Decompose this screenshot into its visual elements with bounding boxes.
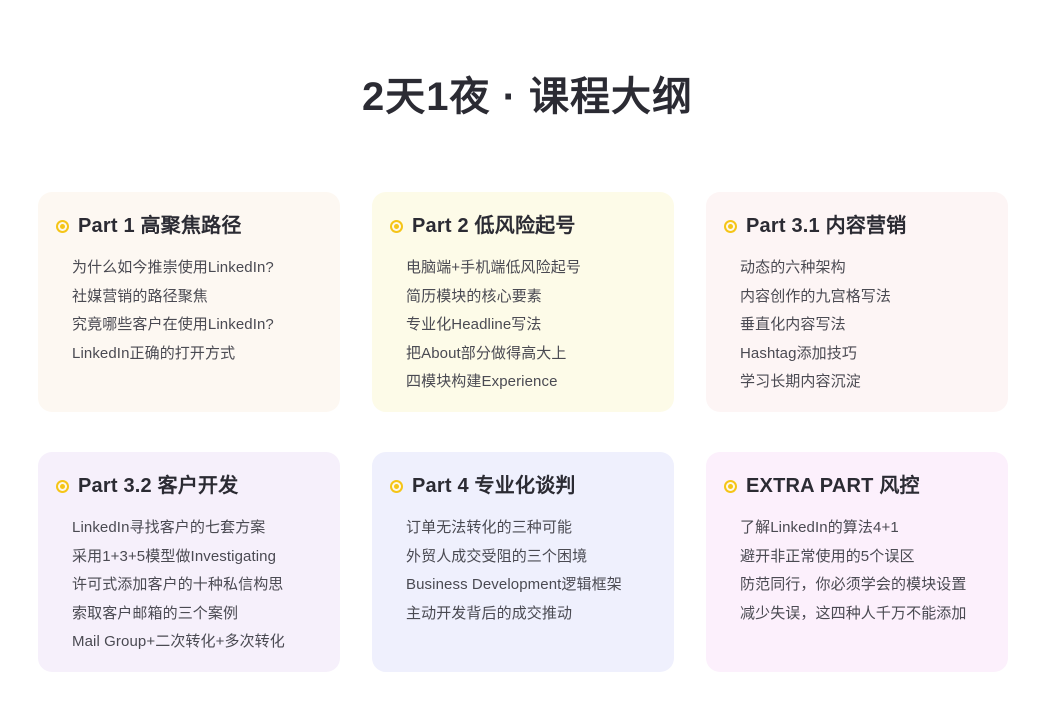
list-item: 专业化Headline写法 — [406, 311, 650, 340]
card-header: EXTRA PART 风控 — [724, 474, 984, 498]
card-header: Part 3.1 内容营销 — [724, 214, 984, 238]
list-item: 订单无法转化的三种可能 — [406, 514, 650, 543]
list-item: Hashtag添加技巧 — [740, 340, 984, 369]
list-item: 电脑端+手机端低风险起号 — [406, 254, 650, 283]
card-title: Part 1 高聚焦路径 — [78, 214, 242, 238]
list-item: Mail Group+二次转化+多次转化 — [72, 628, 316, 657]
card-item-list: 动态的六种架构内容创作的九宫格写法垂直化内容写法Hashtag添加技巧学习长期内… — [724, 254, 984, 397]
card-item-list: 订单无法转化的三种可能外贸人成交受阻的三个困境Business Developm… — [390, 514, 650, 628]
list-item: 主动开发背后的成交推动 — [406, 600, 650, 629]
course-outline-page: 2天1夜 · 课程大纲 Part 1 高聚焦路径为什么如今推崇使用LinkedI… — [0, 0, 1055, 703]
card-title: Part 3.2 客户开发 — [78, 474, 238, 498]
outline-card-part-3-1: Part 3.1 内容营销动态的六种架构内容创作的九宫格写法垂直化内容写法Has… — [706, 192, 1008, 412]
list-item: 减少失误，这四种人千万不能添加 — [740, 600, 984, 629]
card-item-list: 电脑端+手机端低风险起号简历模块的核心要素专业化Headline写法把About… — [390, 254, 650, 397]
list-item: 为什么如今推崇使用LinkedIn? — [72, 254, 316, 283]
card-header: Part 4 专业化谈判 — [390, 474, 650, 498]
list-item: 垂直化内容写法 — [740, 311, 984, 340]
list-item: 动态的六种架构 — [740, 254, 984, 283]
outline-card-part-4: Part 4 专业化谈判订单无法转化的三种可能外贸人成交受阻的三个困境Busin… — [372, 452, 674, 672]
list-item: 防范同行，你必须学会的模块设置 — [740, 571, 984, 600]
ring-dot-icon — [724, 480, 737, 493]
card-header: Part 1 高聚焦路径 — [56, 214, 316, 238]
list-item: 许可式添加客户的十种私信构思 — [72, 571, 316, 600]
card-header: Part 3.2 客户开发 — [56, 474, 316, 498]
card-item-list: 了解LinkedIn的算法4+1避开非正常使用的5个误区防范同行，你必须学会的模… — [724, 514, 984, 628]
list-item: 外贸人成交受阻的三个困境 — [406, 543, 650, 572]
card-title: EXTRA PART 风控 — [746, 474, 920, 498]
card-title: Part 4 专业化谈判 — [412, 474, 576, 498]
outline-card-part-2: Part 2 低风险起号电脑端+手机端低风险起号简历模块的核心要素专业化Head… — [372, 192, 674, 412]
card-header: Part 2 低风险起号 — [390, 214, 650, 238]
card-title: Part 2 低风险起号 — [412, 214, 576, 238]
ring-dot-icon — [56, 480, 69, 493]
ring-dot-icon — [56, 220, 69, 233]
outline-card-part-1: Part 1 高聚焦路径为什么如今推崇使用LinkedIn?社媒营销的路径聚焦究… — [38, 192, 340, 412]
list-item: 索取客户邮箱的三个案例 — [72, 600, 316, 629]
list-item: LinkedIn寻找客户的七套方案 — [72, 514, 316, 543]
card-item-list: LinkedIn寻找客户的七套方案采用1+3+5模型做Investigating… — [56, 514, 316, 657]
card-title: Part 3.1 内容营销 — [746, 214, 906, 238]
list-item: 四模块构建Experience — [406, 368, 650, 397]
list-item: Business Development逻辑框架 — [406, 571, 650, 600]
list-item: 避开非正常使用的5个误区 — [740, 543, 984, 572]
list-item: 内容创作的九宫格写法 — [740, 283, 984, 312]
list-item: 学习长期内容沉淀 — [740, 368, 984, 397]
ring-dot-icon — [724, 220, 737, 233]
card-item-list: 为什么如今推崇使用LinkedIn?社媒营销的路径聚焦究竟哪些客户在使用Link… — [56, 254, 316, 368]
list-item: 把About部分做得高大上 — [406, 340, 650, 369]
list-item: 社媒营销的路径聚焦 — [72, 283, 316, 312]
outline-card-grid: Part 1 高聚焦路径为什么如今推崇使用LinkedIn?社媒营销的路径聚焦究… — [38, 192, 1018, 672]
list-item: LinkedIn正确的打开方式 — [72, 340, 316, 369]
outline-card-part-3-2: Part 3.2 客户开发LinkedIn寻找客户的七套方案采用1+3+5模型做… — [38, 452, 340, 672]
list-item: 了解LinkedIn的算法4+1 — [740, 514, 984, 543]
list-item: 简历模块的核心要素 — [406, 283, 650, 312]
outline-card-extra-part: EXTRA PART 风控了解LinkedIn的算法4+1避开非正常使用的5个误… — [706, 452, 1008, 672]
ring-dot-icon — [390, 480, 403, 493]
ring-dot-icon — [390, 220, 403, 233]
list-item: 究竟哪些客户在使用LinkedIn? — [72, 311, 316, 340]
page-title: 2天1夜 · 课程大纲 — [0, 0, 1055, 122]
list-item: 采用1+3+5模型做Investigating — [72, 543, 316, 572]
